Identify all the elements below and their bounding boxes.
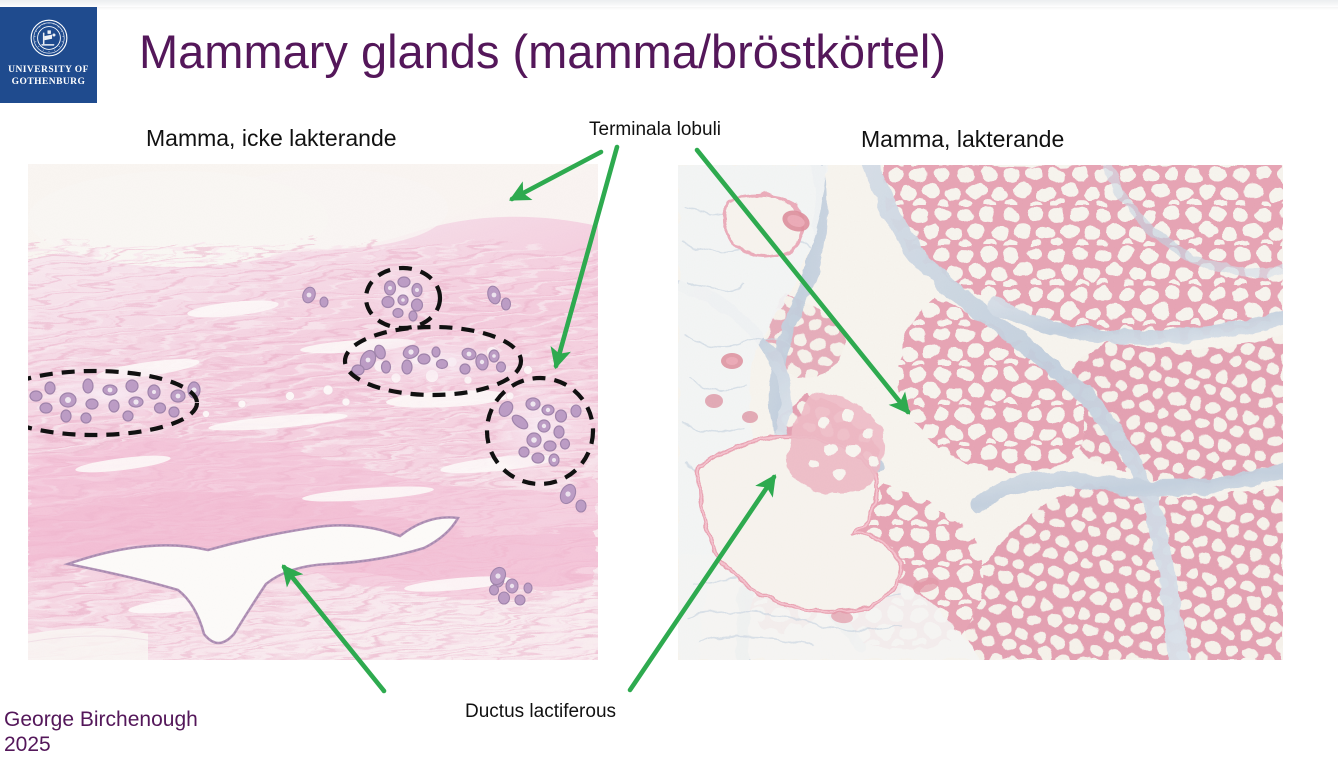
footer-year: 2025 [4, 732, 198, 757]
slide-footer: George Birchenough 2025 [4, 707, 198, 757]
histology-image-non-lactating [28, 164, 598, 660]
university-seal-icon [30, 19, 68, 57]
histology-image-lactating [678, 165, 1283, 660]
label-terminala-lobuli: Terminala lobuli [589, 118, 721, 142]
university-logo-text: UNIVERSITY OF GOTHENBURG [8, 64, 89, 88]
lactating-tissue-render [678, 165, 1283, 660]
slide-canvas: UNIVERSITY OF GOTHENBURG Mammary glands … [0, 0, 1338, 770]
top-edge-shadow [0, 7, 1338, 10]
caption-right-panel: Mamma, lakterande [861, 125, 1064, 153]
label-ductus-lactiferous: Ductus lactiferous [465, 700, 616, 724]
caption-left-panel: Mamma, icke lakterande [146, 124, 397, 152]
top-edge-strip [0, 0, 1338, 7]
logo-line-2: GOTHENBURG [12, 77, 86, 87]
footer-author: George Birchenough [4, 707, 198, 732]
non-lactating-tissue-render [28, 164, 598, 660]
page-title: Mammary glands (mamma/bröstkörtel) [139, 24, 946, 80]
logo-line-1: UNIVERSITY OF [8, 65, 89, 75]
university-of-gothenburg-logo: UNIVERSITY OF GOTHENBURG [0, 7, 97, 103]
